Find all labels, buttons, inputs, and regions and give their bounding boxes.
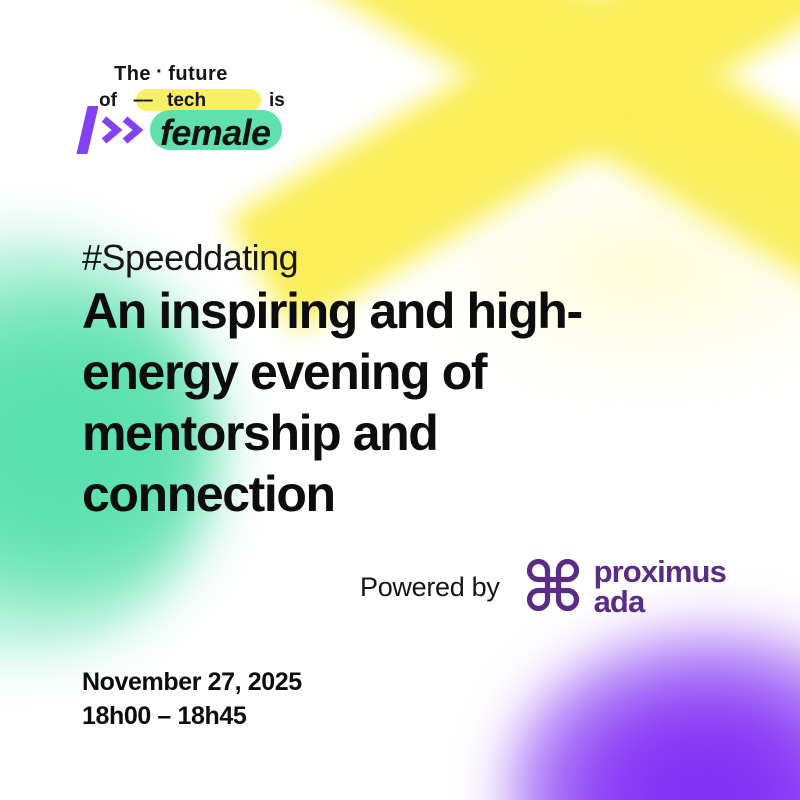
headline-line: An inspiring and high- [82,281,682,342]
purple-slash-icon [76,106,98,154]
proximus-sub-brand-name: ada [594,587,726,617]
brand-word-female: female [160,112,270,154]
event-time: 18h00 – 18h45 [82,699,302,733]
headline-line: energy evening of [82,342,682,403]
proximus-brand-name: proximus [594,557,726,587]
event-date: November 27, 2025 [82,665,302,699]
double-chevron-right-icon [102,116,146,149]
event-datetime: November 27, 2025 18h00 – 18h45 [82,665,302,733]
proximus-flower-mark-icon [524,556,582,619]
brand-tagline-line-1: The·future [114,62,228,86]
headline-line: mentorship and [82,403,682,464]
brand-logo[interactable]: The·future of –– tech is female [82,62,352,157]
powered-by-label: Powered by [360,572,500,603]
headline-line: connection [82,464,682,525]
brand-word-the: The [114,63,151,85]
brand-dot-separator-icon: · [151,62,168,82]
powered-by-row: Powered by proximus ada [360,556,726,618]
event-hashtag: #Speeddating [82,237,298,279]
brand-word-of: of [99,90,117,112]
background-purple-blob [505,625,800,800]
brand-word-tech: tech [167,90,206,112]
background-yellow-x-shape [285,0,800,290]
brand-word-future: future [168,63,228,85]
event-headline: An inspiring and high- energy evening of… [82,281,682,525]
proximus-wordmark: proximus ada [594,557,726,617]
event-poster: The·future of –– tech is female #Speedda… [0,0,800,800]
brand-word-is: is [269,90,285,112]
proximus-ada-logo[interactable]: proximus ada [524,556,726,619]
brand-dashes: –– [133,90,152,112]
